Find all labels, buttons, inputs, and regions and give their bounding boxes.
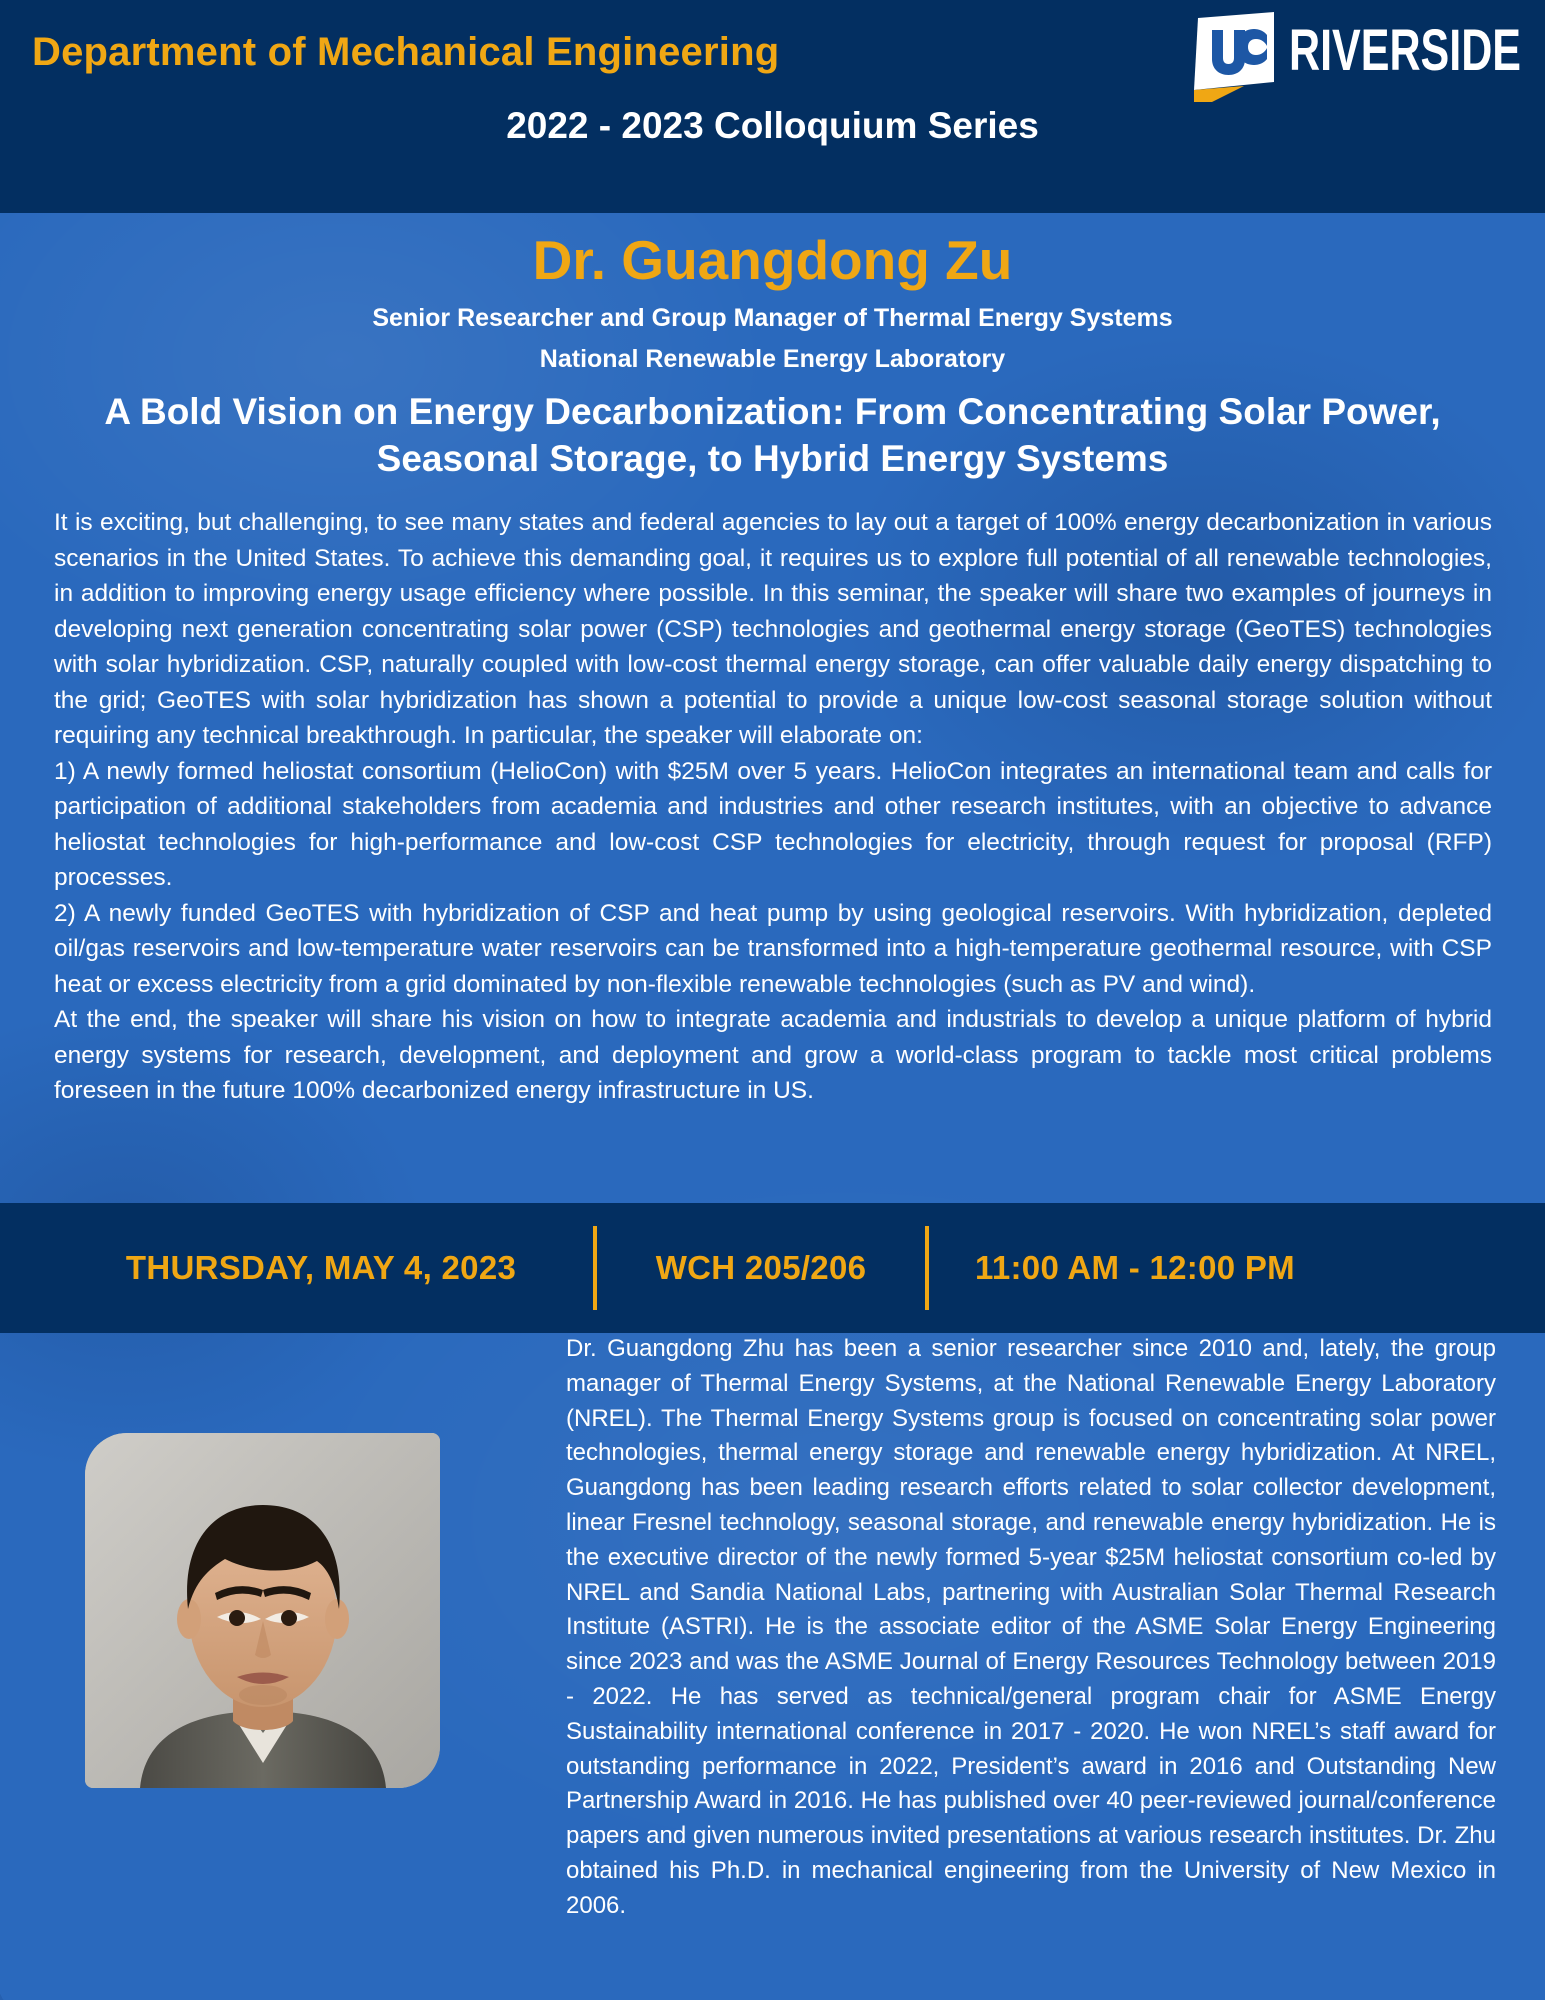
detail-separator [925,1226,929,1310]
abstract-paragraph: At the end, the speaker will share his v… [54,1002,1492,1109]
poster-header: Department of Mechanical Engineering 202… [0,0,1545,213]
talk-title: A Bold Vision on Energy Decarbonization:… [60,388,1485,483]
speaker-role: Senior Researcher and Group Manager of T… [0,304,1545,333]
event-date: THURSDAY, MAY 4, 2023 [95,1249,547,1287]
logo-wordmark: RIVERSIDE [1289,18,1521,83]
event-location: WCH 205/206 [643,1249,879,1287]
abstract-paragraph: 2) A newly funded GeoTES with hybridizat… [54,896,1492,1003]
event-details-bar: THURSDAY, MAY 4, 2023 WCH 205/206 11:00 … [0,1203,1545,1333]
speaker-organization: National Renewable Energy Laboratory [0,345,1545,374]
speaker-name: Dr. Guangdong Zu [0,228,1545,292]
abstract-paragraph: It is exciting, but challenging, to see … [54,505,1492,754]
speaker-bio: Dr. Guangdong Zhu has been a senior rese… [566,1332,1496,1924]
ucr-logo: RIVERSIDE [1182,10,1527,102]
abstract-body: It is exciting, but challenging, to see … [54,505,1492,1109]
series-title: 2022 - 2023 Colloquium Series [0,105,1545,147]
event-time: 11:00 AM - 12:00 PM [975,1249,1295,1287]
abstract-paragraph: 1) A newly formed heliostat consortium (… [54,754,1492,896]
event-details-inner: THURSDAY, MAY 4, 2023 WCH 205/206 11:00 … [95,1226,1295,1310]
detail-separator [593,1226,597,1310]
speaker-portrait [85,1433,440,1788]
colloquium-poster: Department of Mechanical Engineering 202… [0,0,1545,2000]
department-title: Department of Mechanical Engineering [32,30,779,75]
